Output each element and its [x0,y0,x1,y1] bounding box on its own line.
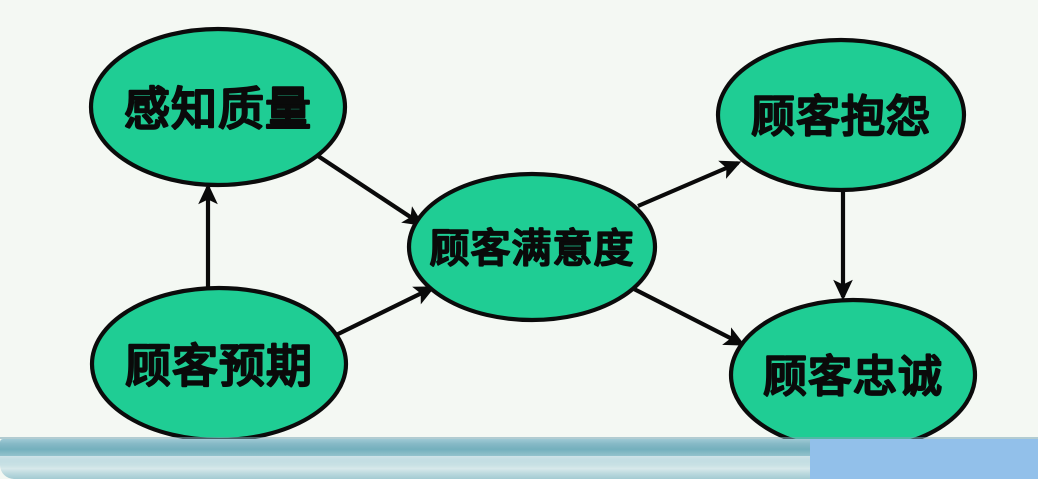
node-customer-satisfaction[interactable]: 顾客满意度 [409,174,655,320]
node-perceived-quality[interactable]: 感知质量 [91,29,345,185]
node-customer-complaint-label: 顾客抱怨 [751,92,931,143]
slide-canvas: 感知质量 顾客预期 顾客满意度 顾客抱怨 顾客忠诚 [0,0,1038,479]
edge-expectation-to-satisfaction [332,288,432,337]
edge-satisfaction-to-loyalty [632,288,742,344]
edge-satisfaction-to-complaint [638,163,738,206]
node-customer-loyalty-label: 顾客忠诚 [763,352,943,403]
node-perceived-quality-label: 感知质量 [124,82,312,136]
footer-accent-panel [810,439,1038,479]
node-customer-loyalty[interactable]: 顾客忠诚 [731,300,975,450]
customer-satisfaction-model-diagram: 感知质量 顾客预期 顾客满意度 顾客抱怨 顾客忠诚 [0,0,1038,479]
node-customer-complaint[interactable]: 顾客抱怨 [718,40,964,190]
diagram-canvas: 感知质量 顾客预期 顾客满意度 顾客抱怨 顾客忠诚 [0,0,1038,479]
node-customer-expectation[interactable]: 顾客预期 [92,288,346,440]
node-customer-satisfaction-label: 顾客满意度 [430,226,635,272]
node-customer-expectation-label: 顾客预期 [125,339,313,393]
edge-quality-to-satisfaction [312,152,421,224]
